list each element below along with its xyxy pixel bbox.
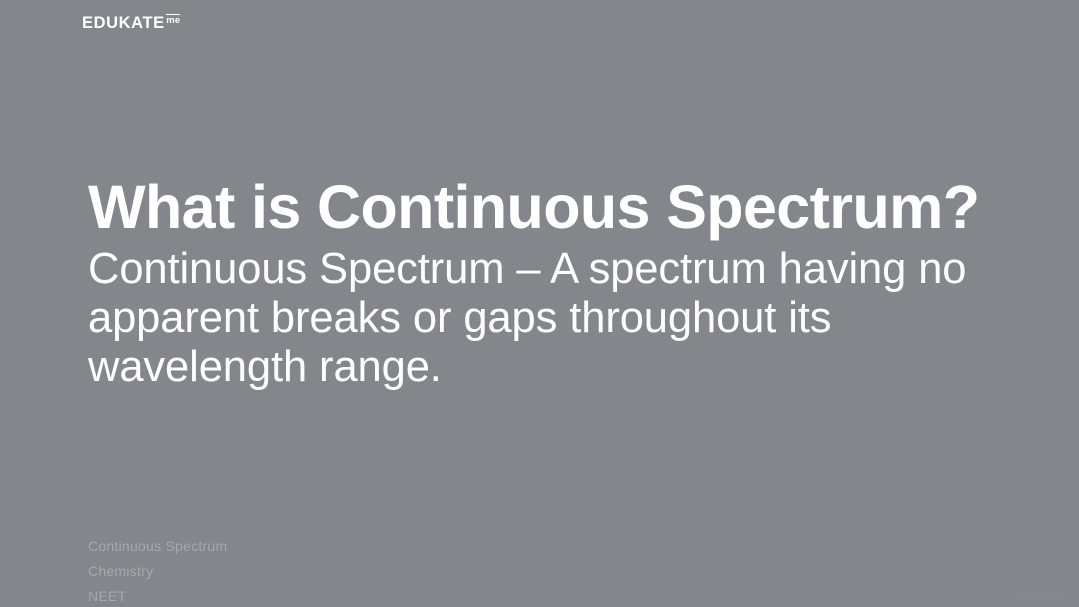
brand-logo-wordmark: EDUKATE: [82, 15, 165, 32]
corner-watermark: edukate.in: [1017, 591, 1063, 601]
slide-body: Continuous Spectrum – A spectrum having …: [88, 245, 968, 392]
footer-topic: Continuous Spectrum: [88, 534, 227, 559]
slide-title: What is Continuous Spectrum?: [88, 175, 1008, 240]
slide-footer-meta: Continuous Spectrum Chemistry NEET: [88, 534, 227, 607]
footer-exam: NEET: [88, 584, 227, 607]
body-line: apparent breaks or gaps throughout its: [88, 294, 968, 343]
footer-subject: Chemistry: [88, 559, 227, 584]
brand-logo[interactable]: EDUKATE me: [82, 15, 180, 32]
presentation-slide: EDUKATE me What is Continuous Spectrum? …: [0, 0, 1079, 607]
body-line: Continuous Spectrum – A spectrum having …: [88, 245, 968, 294]
body-line: wavelength range.: [88, 343, 968, 392]
brand-logo-superscript: me: [166, 14, 180, 26]
